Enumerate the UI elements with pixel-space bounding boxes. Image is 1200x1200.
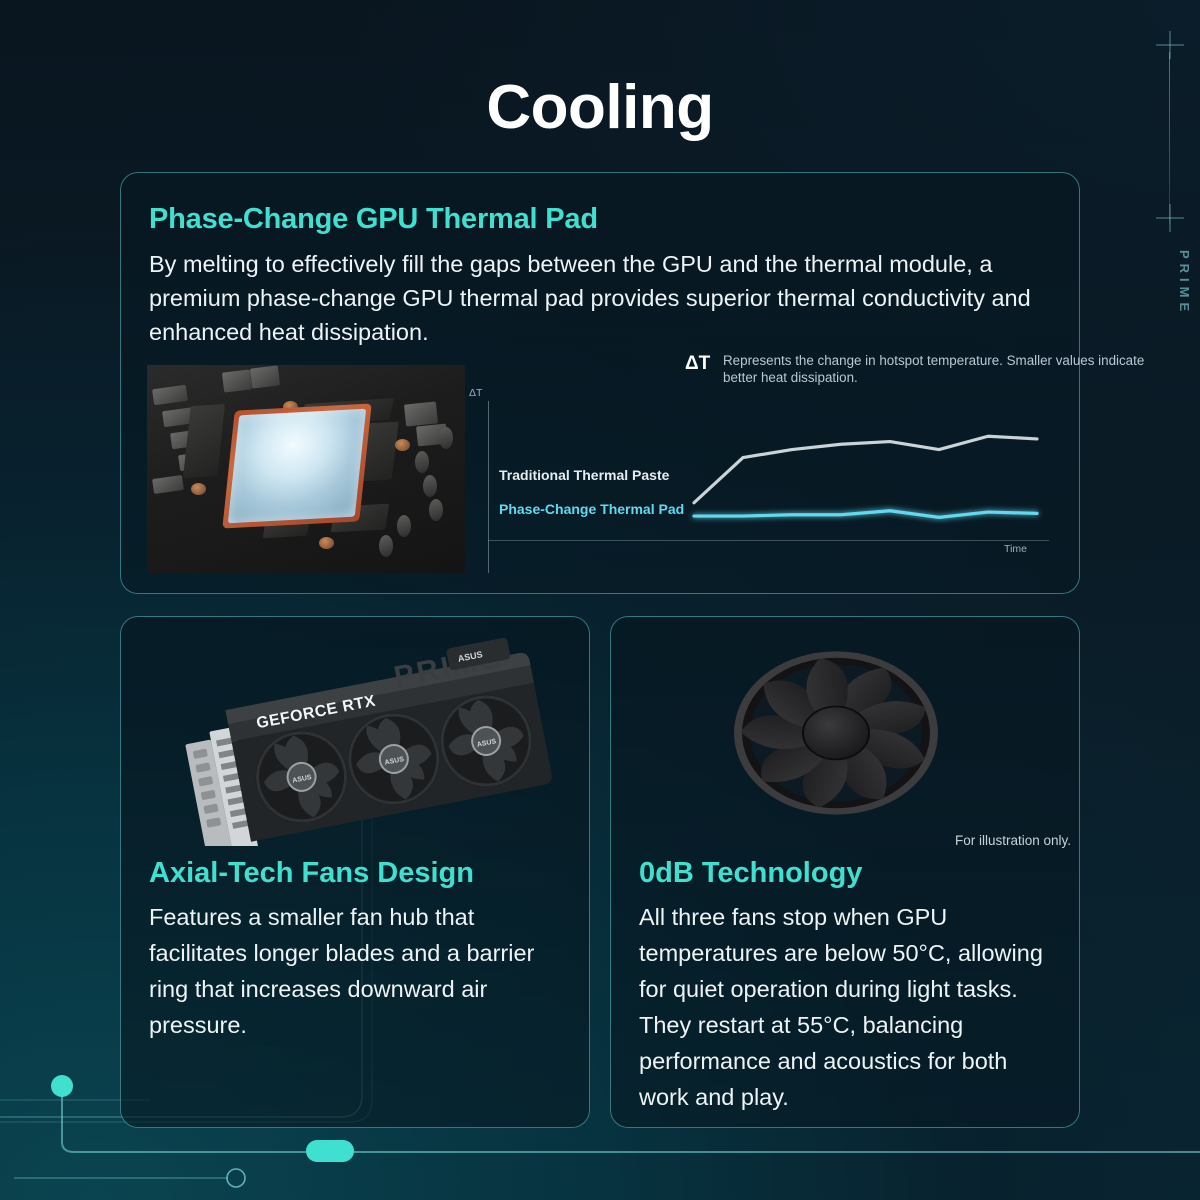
- prime-brand-label: PRIME: [1177, 250, 1192, 316]
- page-root: PRIME Cooling Phase-Change GPU Thermal P…: [0, 0, 1200, 1200]
- card-axial-tech-fans-design: GEFORCE RTX PRIME: [120, 616, 590, 1128]
- asus-prime-geforce-rtx-graphics-card-photo: GEFORCE RTX PRIME: [176, 631, 566, 846]
- gpu-die-with-phase-change-pad: [222, 404, 371, 529]
- card-title-axial-tech-fans: Axial-Tech Fans Design: [149, 857, 474, 890]
- page-title: Cooling: [0, 72, 1200, 143]
- card-body-axial-tech-fans: Features a smaller fan hub that facilita…: [149, 899, 567, 1043]
- card-0db-technology: For illustration only. 0dB Technology Al…: [610, 616, 1080, 1128]
- card-title-0db-technology: 0dB Technology: [639, 857, 862, 890]
- chart-series-lines: [469, 365, 1049, 573]
- illustration-only-note: For illustration only.: [955, 833, 1071, 848]
- card-phase-change-thermal-pad: Phase-Change GPU Thermal Pad By melting …: [120, 172, 1080, 594]
- thermal-comparison-chart: ΔT Represents the change in hotspot temp…: [469, 365, 1049, 573]
- right-brand-rail: PRIME: [1140, 0, 1200, 400]
- crosshair-mark-bottom: [1156, 204, 1184, 232]
- axial-tech-fan-photo: [661, 633, 1011, 838]
- card-title-thermal-pad: Phase-Change GPU Thermal Pad: [149, 203, 598, 236]
- crosshair-mark-top: [1156, 31, 1184, 59]
- gpu-die-thermal-pad-photo: [147, 365, 465, 573]
- card-body-thermal-pad: By melting to effectively fill the gaps …: [149, 247, 1044, 349]
- card-body-0db-technology: All three fans stop when GPU temperature…: [639, 899, 1057, 1115]
